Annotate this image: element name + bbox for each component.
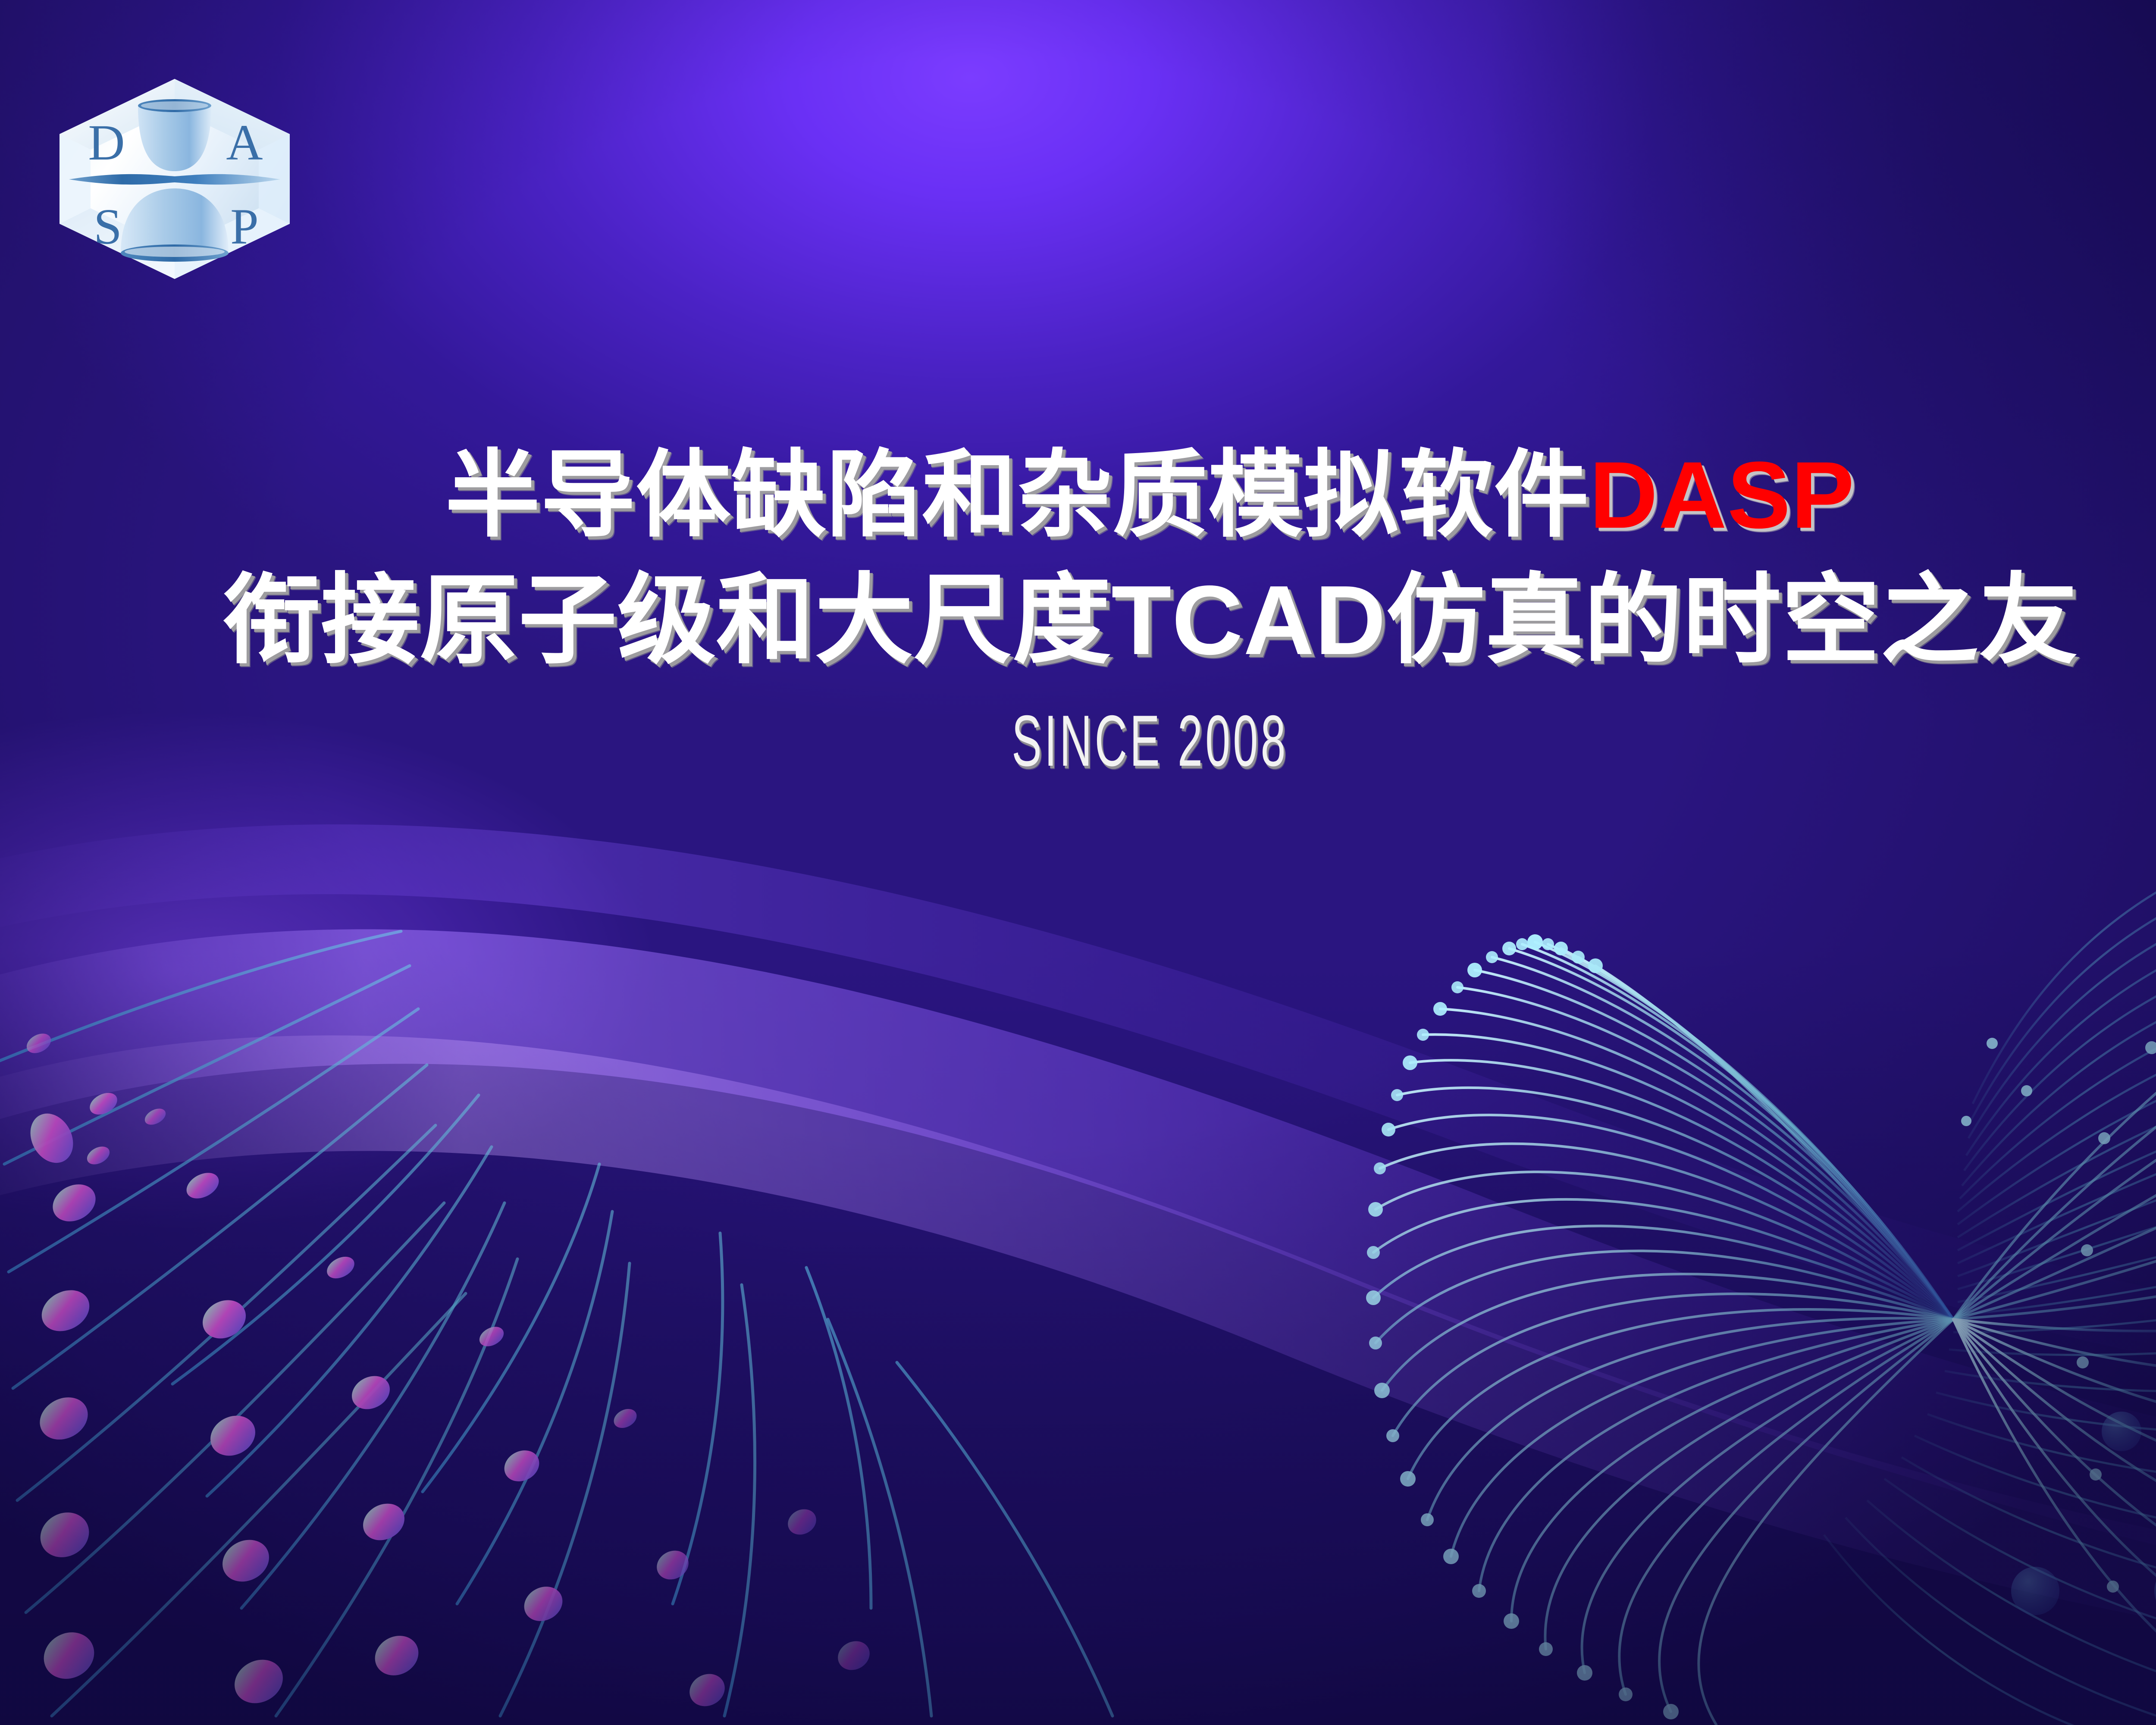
title-line-2: 衔接原子级和大尺度TCAD仿真的时空之友: [0, 567, 2156, 673]
logo-letter-a: A: [226, 114, 263, 171]
subtitle-since: SINCE 2008: [437, 699, 1863, 783]
logo-letter-d: D: [88, 114, 125, 171]
title-block: 半导体缺陷和杂质模拟软件DASP 衔接原子级和大尺度TCAD仿真的时空之友 SI…: [0, 444, 2156, 783]
brand-name-dasp: DASP: [1589, 442, 1855, 548]
dasp-logo[interactable]: D A S P: [56, 75, 293, 282]
title-line-1: 半导体缺陷和杂质模拟软件DASP: [0, 444, 2156, 547]
title-line-1-chinese: 半导体缺陷和杂质模拟软件: [445, 442, 1589, 548]
presentation-slide: D A S P 半导体缺陷和杂质模拟软件DASP 衔接原子级和大尺度TCAD仿真…: [0, 0, 2156, 1725]
logo-letter-p: P: [230, 198, 259, 255]
vignette-overlay: [0, 0, 2156, 1725]
logo-letter-s: S: [94, 198, 122, 255]
